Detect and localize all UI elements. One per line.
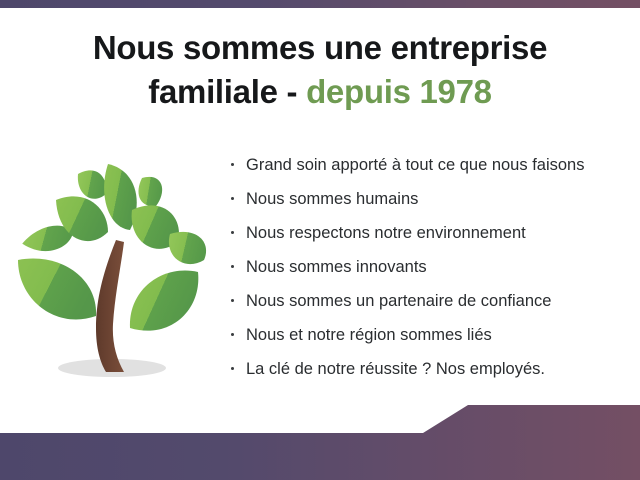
- list-item-label: Grand soin apporté à tout ce que nous fa…: [246, 156, 584, 174]
- list-item-label: La clé de notre réussite ? Nos employés.: [246, 360, 545, 378]
- list-item-label: Nous et notre région sommes liés: [246, 326, 492, 344]
- bullet-dot-icon: [231, 333, 234, 336]
- title-accent-year: depuis 1978: [306, 73, 492, 110]
- title-line-2: familiale - depuis 1978: [0, 70, 640, 114]
- list-item-label: Nous sommes innovants: [246, 258, 427, 276]
- list-item: Grand soin apporté à tout ce que nous fa…: [229, 148, 629, 182]
- top-accent-strip: [0, 0, 640, 8]
- list-item: Nous respectons notre environnement: [229, 216, 629, 250]
- title-line-1: Nous sommes une entreprise: [93, 29, 547, 66]
- bullet-dot-icon: [231, 163, 234, 166]
- list-item-label: Nous respectons notre environnement: [246, 224, 526, 242]
- slide-canvas: Nous sommes une entreprise familiale - d…: [0, 0, 640, 480]
- list-item: Nous sommes un partenaire de confiance: [229, 284, 629, 318]
- tree-illustration: [12, 152, 220, 388]
- list-item: Nous sommes humains: [229, 182, 629, 216]
- list-item: Nous et notre région sommes liés: [229, 318, 629, 352]
- bullet-dot-icon: [231, 367, 234, 370]
- footer-brand-bar: tabor-automobiles.fr: [0, 400, 640, 480]
- bullet-dot-icon: [231, 299, 234, 302]
- page-title: Nous sommes une entreprise familiale - d…: [0, 26, 640, 114]
- bullet-dot-icon: [231, 231, 234, 234]
- list-item-label: Nous sommes un partenaire de confiance: [246, 292, 551, 310]
- title-line-2-prefix: familiale -: [148, 73, 306, 110]
- footer-shape: [0, 400, 640, 480]
- bullet-dot-icon: [231, 265, 234, 268]
- value-proposition-list: Grand soin apporté à tout ce que nous fa…: [229, 148, 629, 386]
- tree-trunk: [96, 240, 124, 372]
- list-item-label: Nous sommes humains: [246, 190, 418, 208]
- bullet-dot-icon: [231, 197, 234, 200]
- list-item: La clé de notre réussite ? Nos employés.: [229, 352, 629, 386]
- list-item: Nous sommes innovants: [229, 250, 629, 284]
